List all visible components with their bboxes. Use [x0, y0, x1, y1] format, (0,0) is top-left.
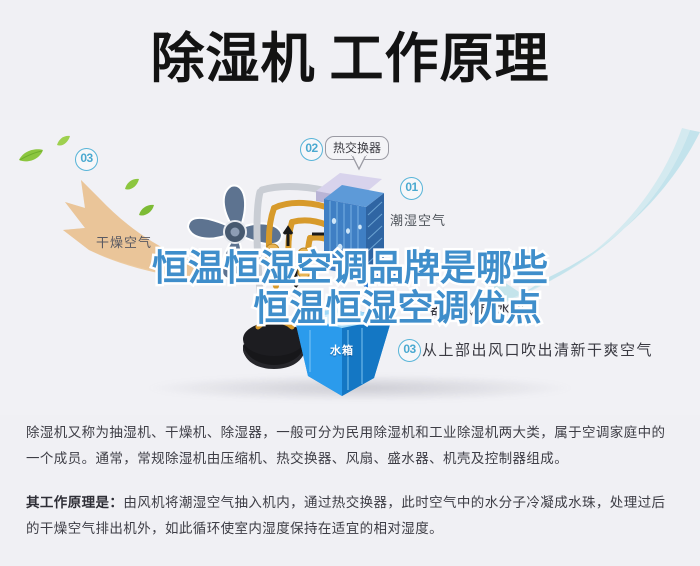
paragraph-2: 其工作原理是：由风机将潮湿空气抽入机内，通过热交换器，此时空气中的水分子冷凝成水… [26, 490, 678, 542]
badge-02-heat-exchanger: 02 [300, 138, 323, 161]
paragraph-2-lead: 其工作原理是： [26, 495, 123, 510]
water-tank-label: 水箱 [330, 342, 354, 358]
badge-03-outlet: 03 [398, 339, 421, 362]
title-part-1: 除湿机 [151, 29, 316, 89]
title-part-2: 工作原理 [330, 29, 550, 89]
outlet-label: 从上部出风口吹出清新干爽空气 [422, 339, 653, 360]
callout-pointer-icon [351, 155, 367, 171]
badge-03-dry-air: 03 [75, 148, 98, 171]
humid-air-label: 潮湿空气 [390, 210, 446, 229]
article-body: 除湿机又称为抽湿机、干燥机、除湿器，一般可分为民用除湿机和工业除湿机两大类，属于… [26, 420, 678, 554]
leaf-icon [124, 178, 140, 196]
paragraph-1: 除湿机又称为抽湿机、干燥机、除湿器，一般可分为民用除湿机和工业除湿机两大类，属于… [26, 420, 678, 472]
overlay-headline: 恒温恒湿空调品牌是哪些 恒温恒湿空调优点 [0, 248, 700, 328]
overlay-line-1: 恒温恒湿空调品牌是哪些 [0, 248, 700, 288]
leaf-icon [138, 204, 155, 222]
leaf-icon [18, 148, 44, 169]
overlay-line-2: 恒温恒湿空调优点 [0, 288, 700, 328]
badge-01-humid-air: 01 [400, 177, 423, 200]
page-title: 除湿机工作原理 [0, 28, 700, 90]
leaf-icon [56, 134, 71, 152]
page-root: 除湿机工作原理 [0, 0, 700, 566]
